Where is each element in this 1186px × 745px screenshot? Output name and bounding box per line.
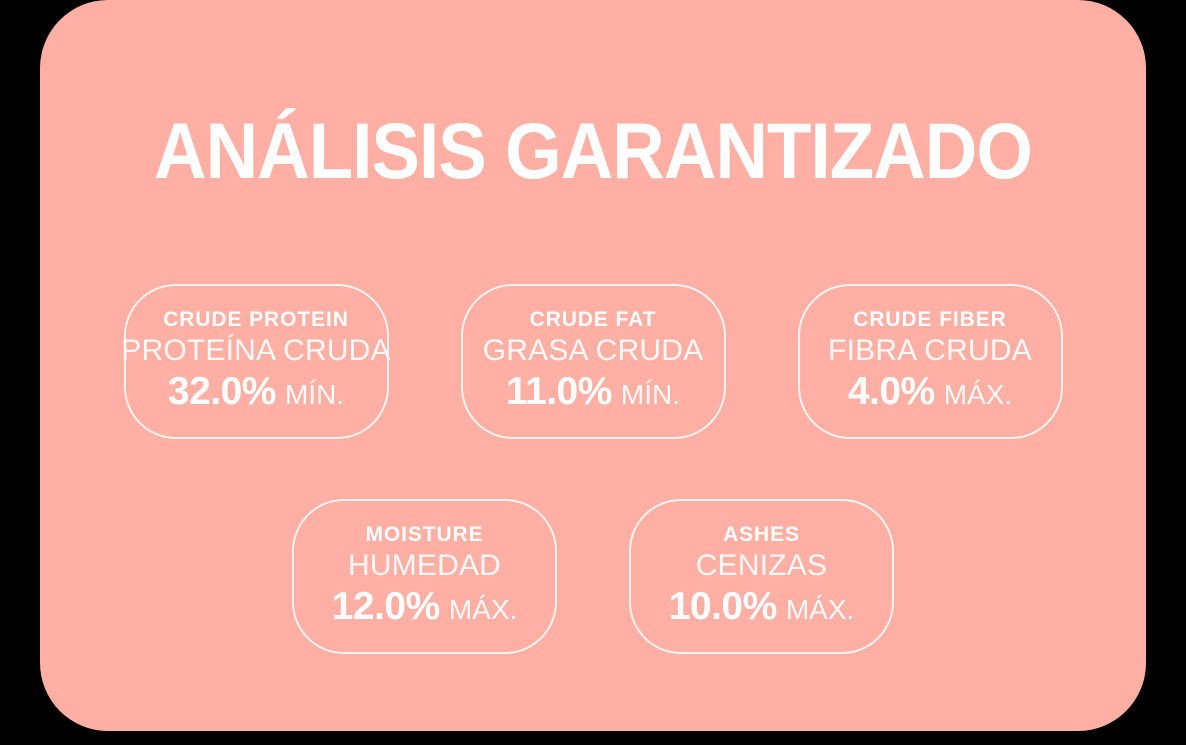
nutrient-pill-crude-fat: CRUDE FAT GRASA CRUDA 11.0% MÍN. <box>461 284 726 439</box>
nutrient-pill-moisture: MOISTURE HUMEDAD 12.0% MÁX. <box>292 499 557 654</box>
nutrient-label-es: PROTEÍNA CRUDA <box>121 333 391 368</box>
nutrient-label-en: CRUDE PROTEIN <box>163 307 349 332</box>
nutrient-unit: MÍN. <box>285 373 344 417</box>
nutrient-pill-crude-protein: CRUDE PROTEIN PROTEÍNA CRUDA 32.0% MÍN. <box>124 284 389 439</box>
nutrient-label-es: FIBRA CRUDA <box>828 333 1032 368</box>
nutrient-pill-crude-fiber: CRUDE FIBER FIBRA CRUDA 4.0% MÁX. <box>798 284 1063 439</box>
nutrient-pill-ashes: ASHES CENIZAS 10.0% MÁX. <box>629 499 894 654</box>
nutrient-value: 10.0% <box>669 585 777 629</box>
nutrient-label-en: CRUDE FIBER <box>853 307 1006 332</box>
nutrient-unit: MÍN. <box>621 373 680 417</box>
nutrient-value-line: 10.0% MÁX. <box>669 585 855 632</box>
nutrient-value-line: 4.0% MÁX. <box>848 370 1012 417</box>
nutrient-value-line: 32.0% MÍN. <box>168 370 344 417</box>
nutrient-unit: MÁX. <box>449 588 517 632</box>
nutrient-label-es: CENIZAS <box>696 548 827 583</box>
nutrient-label-en: ASHES <box>723 522 800 547</box>
nutrient-row-top: CRUDE PROTEIN PROTEÍNA CRUDA 32.0% MÍN. … <box>40 284 1146 439</box>
nutrient-value: 11.0% <box>506 370 612 414</box>
nutrient-value-line: 11.0% MÍN. <box>506 370 680 417</box>
nutrient-row-bottom: MOISTURE HUMEDAD 12.0% MÁX. ASHES CENIZA… <box>40 499 1146 654</box>
nutrient-unit: MÁX. <box>944 373 1012 417</box>
nutrient-value: 4.0% <box>848 370 935 414</box>
nutrient-label-en: CRUDE FAT <box>530 307 657 332</box>
nutrient-label-es: HUMEDAD <box>348 548 501 583</box>
page-title: ANÁLISIS GARANTIZADO <box>84 108 1102 194</box>
guaranteed-analysis-panel: ANÁLISIS GARANTIZADO CRUDE PROTEIN PROTE… <box>40 0 1146 731</box>
nutrient-unit: MÁX. <box>786 588 854 632</box>
nutrient-value-line: 12.0% MÁX. <box>332 585 518 632</box>
nutrient-label-es: GRASA CRUDA <box>483 333 704 368</box>
nutrient-value: 12.0% <box>332 585 440 629</box>
nutrient-label-en: MOISTURE <box>365 522 483 547</box>
nutrient-value: 32.0% <box>168 370 276 414</box>
